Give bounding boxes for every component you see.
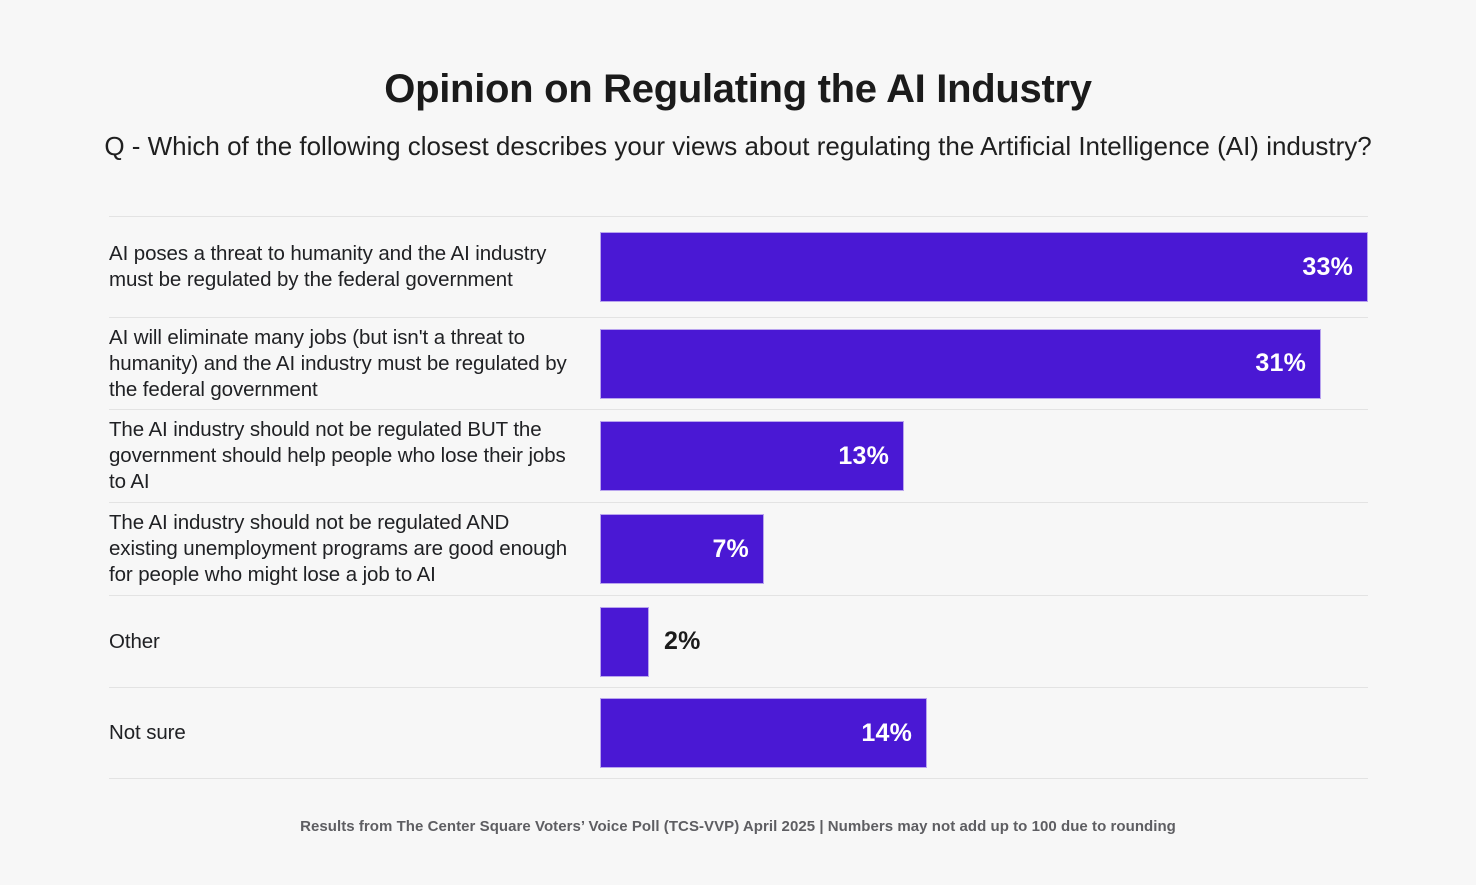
chart-source-footer: Results from The Center Square Voters’ V… [0,818,1476,835]
bar-value-label: 33% [1302,253,1367,282]
bar[interactable]: 31% [600,329,1321,399]
chart-container: Opinion on Regulating the AI Industry Q … [0,0,1476,885]
bar[interactable]: 14% [600,698,927,768]
chart-row: AI will eliminate many jobs (but isn't a… [109,317,1368,409]
bar[interactable]: 13% [600,421,904,491]
category-label: The AI industry should not be regulated … [109,510,600,588]
chart-row: The AI industry should not be regulated … [109,502,1368,595]
bar[interactable]: 2% [600,607,649,677]
bar-track: 33% [600,217,1368,317]
bar-value-label: 2% [648,627,701,656]
bar[interactable]: 7% [600,514,764,584]
category-label: The AI industry should not be regulated … [109,417,600,495]
category-label: Not sure [109,720,600,746]
bar-track: 2% [600,596,1368,687]
bar-chart-plot-area: AI poses a threat to humanity and the AI… [109,216,1368,779]
bar-value-label: 13% [838,442,903,471]
bar-value-label: 14% [861,719,926,748]
chart-title: Opinion on Regulating the AI Industry [0,66,1476,112]
bar-value-label: 7% [712,535,763,564]
chart-row: Not sure 14% [109,687,1368,779]
bar-value-label: 31% [1255,349,1320,378]
chart-row: AI poses a threat to humanity and the AI… [109,216,1368,317]
category-label: Other [109,629,600,655]
chart-row: Other 2% [109,595,1368,687]
chart-subtitle: Q - Which of the following closest descr… [0,130,1476,163]
bar[interactable]: 33% [600,232,1368,302]
bar-track: 14% [600,688,1368,778]
category-label: AI poses a threat to humanity and the AI… [109,241,600,293]
bar-track: 31% [600,318,1368,409]
bar-track: 13% [600,410,1368,502]
bar-track: 7% [600,503,1368,595]
chart-row: The AI industry should not be regulated … [109,409,1368,502]
category-label: AI will eliminate many jobs (but isn't a… [109,325,600,403]
